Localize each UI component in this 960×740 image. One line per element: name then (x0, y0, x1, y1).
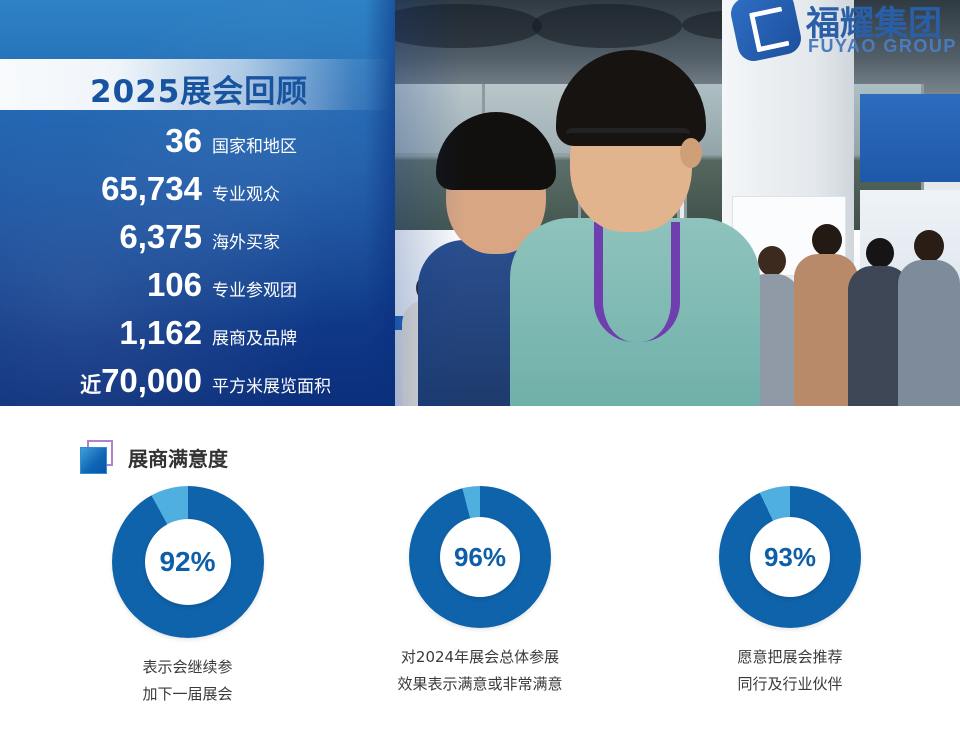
satisfaction-section: 展商满意度 92%表示会继续参加下一届展会96%对2024年展会总体参展效果表示… (0, 406, 960, 740)
stat-number-value: 106 (147, 266, 202, 303)
donut-chart: 92%表示会继续参加下一届展会 (0, 486, 375, 708)
page-title: 2025展会回顾 (90, 66, 308, 111)
stat-label: 海外买家 (212, 222, 280, 264)
satisfaction-header: 展商满意度 (80, 440, 228, 474)
stat-row: 65,734专业观众 (0, 168, 395, 210)
donut-caption: 表示会继续参加下一届展会 (0, 654, 375, 708)
stat-number-value: 36 (165, 122, 202, 159)
donut-chart: 93%愿意把展会推荐同行及行业伙伴 (640, 486, 940, 698)
stat-number: 1,162 (0, 312, 212, 354)
stat-number: 6,375 (0, 216, 212, 258)
donut-caption-line1: 对2024年展会总体参展 (330, 644, 630, 671)
stat-label: 平方米展览面积 (212, 366, 331, 406)
satisfaction-title: 展商满意度 (128, 443, 228, 472)
stat-label: 专业观众 (212, 174, 280, 216)
exhibition-photo: FORVIA faurecia 亚达业有限公 Acoustic & Soft T… (382, 0, 960, 406)
donut-caption-line2: 同行及行业伙伴 (640, 671, 940, 698)
donut-charts: 92%表示会继续参加下一届展会96%对2024年展会总体参展效果表示满意或非常满… (0, 486, 960, 736)
donut-percentage: 93% (764, 542, 816, 573)
donut-ring: 93% (719, 486, 861, 628)
donut-caption: 愿意把展会推荐同行及行业伙伴 (640, 644, 940, 698)
statistics-list: 36国家和地区65,734专业观众6,375海外买家106专业参观团1,162展… (0, 120, 395, 406)
donut-wrap: 96% (409, 486, 551, 628)
donut-percentage: 92% (159, 546, 215, 578)
stat-label: 国家和地区 (212, 126, 297, 168)
donut-caption-line1: 表示会继续参 (0, 654, 375, 681)
foreground-person-right (530, 46, 746, 406)
stat-row: 6,375海外买家 (0, 216, 395, 258)
crowd-person (898, 230, 960, 406)
donut-hole: 96% (440, 517, 520, 597)
donut-caption-line1: 愿意把展会推荐 (640, 644, 940, 671)
donut-percentage: 96% (454, 542, 506, 573)
donut-caption-line2: 效果表示满意或非常满意 (330, 671, 630, 698)
donut-wrap: 92% (112, 486, 264, 638)
stat-number-prefix: 近 (80, 373, 101, 397)
stat-number: 65,734 (0, 168, 212, 210)
exhibition-review-page: FORVIA faurecia 亚达业有限公 Acoustic & Soft T… (0, 0, 960, 740)
stat-number: 106 (0, 264, 212, 306)
donut-hole: 93% (750, 517, 830, 597)
stat-number: 近70,000 (0, 360, 212, 406)
stat-row: 1,162展商及品牌 (0, 312, 395, 354)
banner-section: FORVIA faurecia 亚达业有限公 Acoustic & Soft T… (0, 0, 960, 406)
donut-chart: 96%对2024年展会总体参展效果表示满意或非常满意 (330, 486, 630, 698)
stat-row: 106专业参观团 (0, 264, 395, 306)
donut-ring: 96% (409, 486, 551, 628)
stat-label: 专业参观团 (212, 270, 297, 312)
stat-number-value: 1,162 (119, 314, 202, 351)
stat-number-value: 70,000 (101, 362, 202, 399)
stat-row: 近70,000平方米展览面积 (0, 360, 395, 402)
layered-square-icon (80, 440, 114, 474)
photo-crowd (382, 0, 960, 406)
stat-label: 展商及品牌 (212, 318, 297, 360)
stat-row: 36国家和地区 (0, 120, 395, 162)
layered-square-icon-fill (80, 447, 107, 474)
stat-number: 36 (0, 120, 212, 162)
donut-caption: 对2024年展会总体参展效果表示满意或非常满意 (330, 644, 630, 698)
donut-wrap: 93% (719, 486, 861, 628)
donut-caption-line2: 加下一届展会 (0, 681, 375, 708)
stat-number-value: 65,734 (101, 170, 202, 207)
stat-number-value: 6,375 (119, 218, 202, 255)
donut-ring: 92% (112, 486, 264, 638)
donut-hole: 92% (145, 519, 231, 605)
